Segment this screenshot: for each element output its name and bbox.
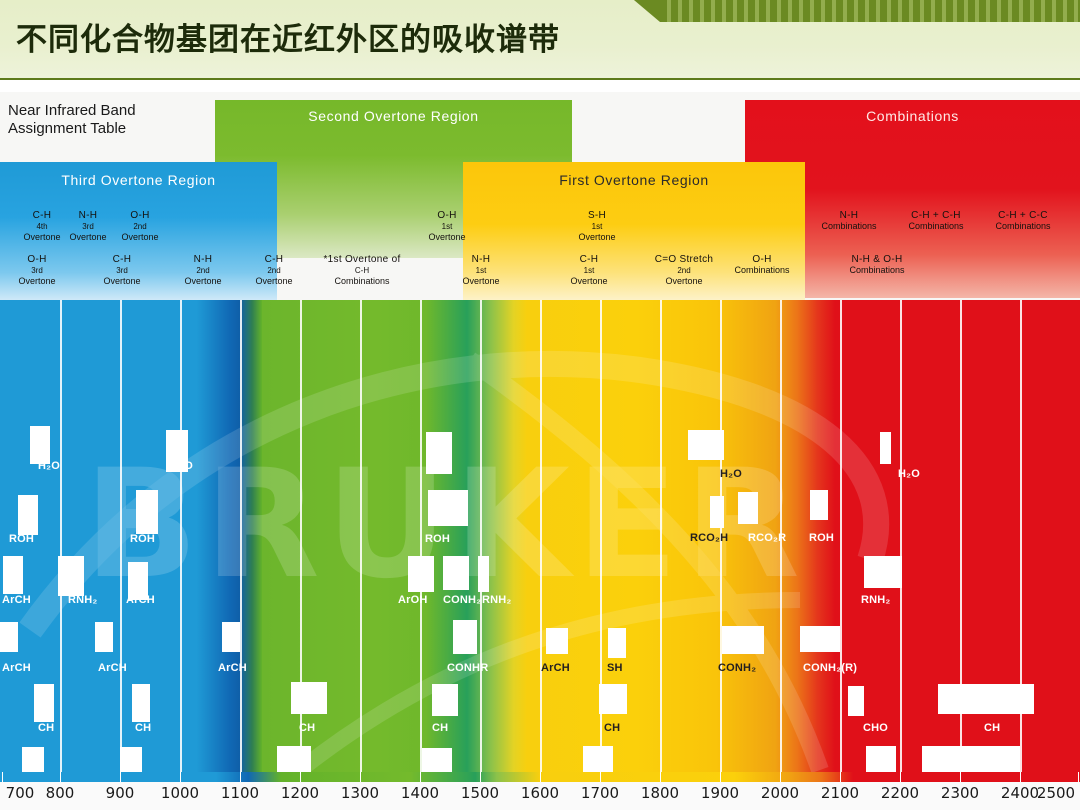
assignment-label: N-HCombinations	[805, 210, 893, 232]
assignment-label: O-H1stOvertone	[403, 210, 491, 243]
region-label-combinations: Combinations	[745, 108, 1080, 124]
axis-tick-label: 2100	[821, 784, 859, 802]
assignment-label: C-H2ndOvertone	[230, 254, 318, 287]
absorption-band-label: RNH₂	[482, 594, 512, 606]
gridline	[360, 300, 362, 772]
axis-tick	[1020, 772, 1021, 782]
absorption-band	[688, 430, 724, 460]
absorption-band	[880, 432, 891, 464]
axis-tick	[420, 772, 421, 782]
absorption-band	[810, 490, 828, 520]
absorption-band-label: CH	[984, 722, 1000, 734]
axis-tick	[1078, 772, 1079, 782]
absorption-band-label: H₂O	[38, 460, 60, 472]
axis-tick-label: 2200	[881, 784, 919, 802]
axis-tick	[960, 772, 961, 782]
axis-tick-label: 2300	[941, 784, 979, 802]
assignment-label: O-H2ndOvertone	[96, 210, 184, 243]
absorption-band	[34, 684, 54, 722]
axis-tick	[240, 772, 241, 782]
gradient-blue-green	[240, 300, 262, 772]
assignment-label: N-H1stOvertone	[437, 254, 525, 287]
gridline	[180, 300, 182, 772]
absorption-band-label: ROH	[9, 533, 34, 545]
axis-tick-label: 800	[46, 784, 75, 802]
absorption-band-label: ArCH	[541, 662, 570, 674]
gridline	[900, 300, 902, 772]
assignment-label: C-H + C-CCombinations	[979, 210, 1067, 232]
assignment-label: O-HCombinations	[718, 254, 806, 276]
absorption-band	[291, 682, 327, 714]
axis-tick	[480, 772, 481, 782]
absorption-band	[453, 620, 477, 654]
axis-tick-label: 1500	[461, 784, 499, 802]
absorption-band-label: ROH	[809, 532, 834, 544]
gridline	[660, 300, 662, 772]
absorption-band	[432, 684, 458, 716]
absorption-band-label: ROH	[425, 533, 450, 545]
gridline	[480, 300, 482, 772]
absorption-band-label: ArCH	[2, 662, 31, 674]
axis-tick-label: 1300	[341, 784, 379, 802]
absorption-band	[18, 495, 38, 535]
absorption-band-label: CONHR	[447, 662, 488, 674]
absorption-band-label: SH	[607, 662, 623, 674]
absorption-band-label: ArCH	[126, 594, 155, 606]
axis-tick	[300, 772, 301, 782]
absorption-band-label: H₂O	[898, 468, 920, 480]
assignment-label: S-H1stOvertone	[553, 210, 641, 243]
axis-tick	[2, 772, 3, 782]
absorption-band-label: CH	[432, 722, 448, 734]
gridline	[420, 300, 422, 772]
absorption-band	[722, 626, 764, 654]
absorption-band-label: CONH₂	[443, 594, 481, 606]
absorption-band-label: RCO₂R	[748, 532, 786, 544]
absorption-band	[738, 492, 758, 524]
absorption-band-label: ArCH	[218, 662, 247, 674]
absorption-band	[95, 622, 113, 652]
axis-tick-label: 1200	[281, 784, 319, 802]
absorption-band	[22, 747, 44, 772]
absorption-band-label: CH	[38, 722, 54, 734]
figure-table-name: Near Infrared Band Assignment Table	[8, 102, 208, 138]
axis-tick-label: 1100	[221, 784, 259, 802]
region-label-third-overtone: Third Overtone Region	[0, 172, 277, 188]
axis-tick	[120, 772, 121, 782]
figure-table-name-line2: Assignment Table	[8, 120, 208, 138]
absorption-band-label: CONH₂	[718, 662, 756, 674]
axis-tick	[900, 772, 901, 782]
region-label-first-overtone: First Overtone Region	[463, 172, 805, 188]
gradient-green-yellow	[467, 300, 527, 772]
absorption-band-label: ROH	[130, 533, 155, 545]
axis-tick	[60, 772, 61, 782]
axis-tick-label: 2000	[761, 784, 799, 802]
absorption-band	[478, 556, 489, 592]
absorption-band-label: H₂O	[720, 468, 742, 480]
axis-tick-label: 1600	[521, 784, 559, 802]
figure-header-area: Near Infrared Band Assignment Table Seco…	[0, 92, 1080, 300]
absorption-band	[30, 426, 50, 464]
absorption-band-label: H₂O	[429, 464, 451, 476]
axis-tick	[660, 772, 661, 782]
absorption-band	[608, 628, 626, 658]
axis-tick-label: 900	[106, 784, 135, 802]
absorption-band	[428, 490, 468, 526]
gridline	[540, 300, 542, 772]
absorption-band	[277, 746, 311, 772]
absorption-band	[866, 746, 896, 772]
absorption-band-label: ArCH	[2, 594, 31, 606]
absorption-band	[120, 747, 142, 772]
axis-tick	[840, 772, 841, 782]
assignment-label: C-H + C-HCombinations	[892, 210, 980, 232]
absorption-band	[422, 748, 452, 772]
axis-tick-label: 1400	[401, 784, 439, 802]
axis-tick-label: 1700	[581, 784, 619, 802]
absorption-band-label: CH	[604, 722, 620, 734]
absorption-band	[599, 684, 627, 714]
absorption-band-label: ArCH	[98, 662, 127, 674]
absorption-band	[58, 556, 84, 596]
axis-tick-label: 2400	[1001, 784, 1039, 802]
assignment-label: C-H1stOvertone	[545, 254, 633, 287]
absorption-band	[864, 556, 902, 588]
axis-tick	[540, 772, 541, 782]
axis-tick	[180, 772, 181, 782]
absorption-band-label: CONH₂(R)	[803, 662, 857, 674]
gridline	[60, 300, 62, 772]
absorption-band	[408, 556, 434, 592]
absorption-band	[443, 556, 469, 590]
axis-tick-label: 2500	[1037, 784, 1075, 802]
absorption-band	[848, 686, 864, 716]
assignment-label: C=O Stretch2ndOvertone	[640, 254, 728, 287]
gridline	[840, 300, 842, 772]
absorption-band	[922, 746, 1020, 772]
slide-title-bar: 不同化合物基团在近红外区的吸收谱带	[0, 0, 1080, 80]
gridline	[120, 300, 122, 772]
axis-tick-label: 1000	[161, 784, 199, 802]
absorption-band	[800, 626, 840, 652]
wavelength-axis: 7008009001000110012001300140015001600170…	[0, 772, 1080, 810]
absorption-band	[938, 684, 1034, 714]
axis-tick-label: 1900	[701, 784, 739, 802]
absorption-band	[136, 490, 158, 534]
page-title: 不同化合物基团在近红外区的吸收谱带	[16, 14, 560, 59]
absorption-band	[132, 684, 150, 722]
region-label-second-overtone: Second Overtone Region	[215, 108, 572, 124]
axis-tick-label: 700	[6, 784, 35, 802]
axis-tick-label: 1800	[641, 784, 679, 802]
absorption-band-label: ArOH	[398, 594, 428, 606]
absorption-band-label: RNH₂	[68, 594, 98, 606]
axis-tick	[600, 772, 601, 782]
absorption-band	[222, 622, 240, 652]
slide-title-decoration	[660, 0, 1080, 22]
axis-tick	[780, 772, 781, 782]
assignment-label: N-H & O-HCombinations	[833, 254, 921, 276]
absorption-band-label: CH	[135, 722, 151, 734]
absorption-band	[583, 746, 613, 772]
figure-table-name-line1: Near Infrared Band	[8, 102, 208, 120]
absorption-band-label: CH	[299, 722, 315, 734]
spectrum-plot-area: BRUKER H₂OH₂OH₂OH₂OH₂OROHROHROHROHRCO₂HR…	[0, 300, 1080, 772]
assignment-label: O-H3rdOvertone	[0, 254, 81, 287]
absorption-band-label: RCO₂H	[690, 532, 728, 544]
nir-band-assignment-figure: Near Infrared Band Assignment Table Seco…	[0, 92, 1080, 810]
absorption-band	[710, 496, 724, 528]
absorption-band	[3, 556, 23, 594]
absorption-band-label: H₂O	[171, 460, 193, 472]
absorption-band-label: CHO	[863, 722, 888, 734]
absorption-band	[546, 628, 568, 654]
absorption-band-label: RNH₂	[861, 594, 891, 606]
assignment-label: *1st Overtone ofC-HCombinations	[318, 254, 406, 287]
assignment-label: C-H3rdOvertone	[78, 254, 166, 287]
gridline	[240, 300, 242, 772]
axis-tick	[360, 772, 361, 782]
axis-tick	[720, 772, 721, 782]
absorption-band	[0, 622, 18, 652]
